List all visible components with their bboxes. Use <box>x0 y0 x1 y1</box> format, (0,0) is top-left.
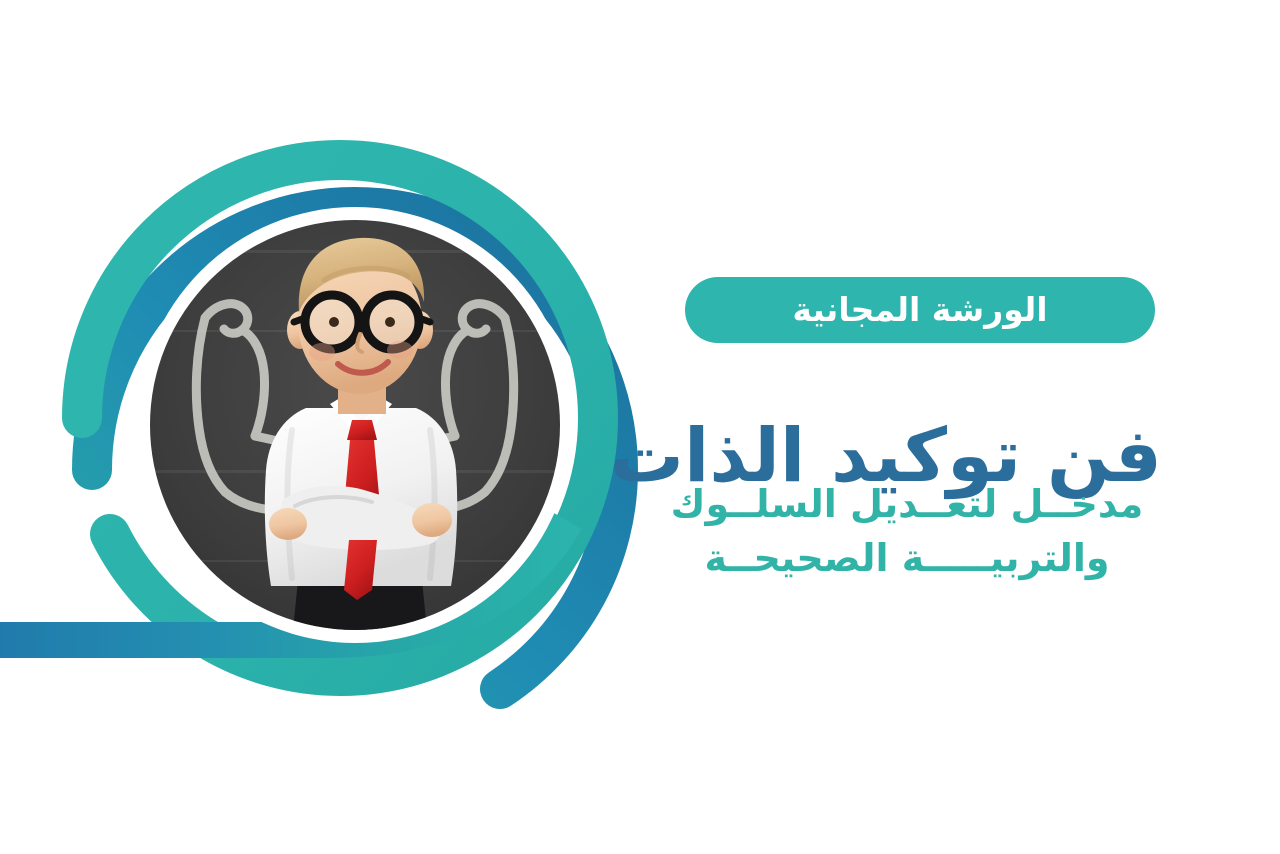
child-hand-right <box>412 503 452 537</box>
free-workshop-badge[interactable]: الورشة المجانية <box>685 277 1155 343</box>
subtitle-line-2: والتربيـــــة الصحيحــة <box>652 532 1162 586</box>
promo-banner: الورشة المجانية فن توكيد الذات مدخــل لت… <box>0 0 1280 854</box>
text-column: الورشة المجانية فن توكيد الذات مدخــل لت… <box>640 0 1280 854</box>
child-hand-left <box>269 508 307 540</box>
child-cheek-left <box>309 343 335 361</box>
graphic-stage <box>0 0 660 854</box>
child-eye-right <box>385 317 395 327</box>
decorative-rings-and-photo <box>0 0 660 854</box>
free-workshop-badge-label: الورشة المجانية <box>792 293 1047 326</box>
subtitle: مدخــل لتعــديل السلــوك والتربيـــــة ا… <box>652 478 1162 586</box>
child-cheek-right <box>387 341 413 359</box>
subtitle-line-1: مدخــل لتعــديل السلــوك <box>652 478 1162 532</box>
necktie-knot <box>347 420 377 440</box>
child-eye-left <box>329 317 339 327</box>
